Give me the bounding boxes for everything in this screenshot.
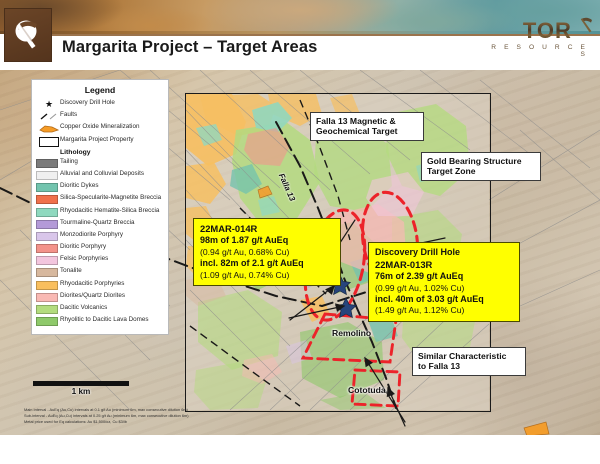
- brand-pick-icon: [580, 17, 594, 33]
- footnote-line-3: Metal price used for Eq calculations: Au…: [24, 419, 354, 425]
- brand-name-main: TOR: [523, 18, 572, 43]
- torq-resources-logo: TORQ R E S O U R C E S: [486, 20, 590, 58]
- map-label-cototuda: Cototuda: [348, 385, 386, 395]
- drill-013-title: Discovery Drill Hole: [375, 247, 513, 259]
- drill-014-line4: (1.09 g/t Au, 0.74% Cu): [200, 270, 334, 281]
- legend-label-monzodiorite: Monzodiorite Porphyry: [60, 231, 123, 238]
- drill-013-line2: (0.99 g/t Au, 1.02% Cu): [375, 283, 513, 294]
- callout-similar-line2: to Falla 13: [418, 361, 520, 371]
- slide-root: Margarita Project – Target Areas TORQ R …: [0, 0, 600, 464]
- legend-item-copper-oxide: Copper Oxide Mineralization: [38, 123, 162, 133]
- drill-013-hole-id: 22MAR-013R: [375, 259, 513, 271]
- swatch-tourmaline-quartz: [36, 220, 58, 229]
- legend-item-property: Margarita Project Property: [38, 136, 162, 147]
- legend-label-rhyodacitic-porphyries: Rhyodacitic Porphyries: [60, 280, 124, 287]
- map-scale-bar: 1 km: [33, 381, 129, 396]
- legend-item-lithology: Rhyodacitic Porphyries: [38, 280, 162, 290]
- legend-item-lithology: Dacitic Volcanics: [38, 304, 162, 314]
- swatch-dioritic-porphyry: [36, 244, 58, 253]
- swatch-diorites-quartz: [36, 293, 58, 302]
- drill-014-line1: 98m of 1.87 g/t AuEq: [200, 235, 334, 247]
- map-canvas[interactable]: Falla 13 WNW Tensional Remolino Cototuda…: [0, 70, 600, 435]
- legend-item-lithology: Tonalite: [38, 267, 162, 277]
- legend-item-lithology: Felsic Porphyries: [38, 255, 162, 265]
- page-title: Margarita Project – Target Areas: [62, 38, 317, 57]
- map-legend: Legend ★ Discovery Drill Hole Faults Cop…: [31, 79, 169, 335]
- scale-bar-line: [33, 381, 129, 386]
- star-icon: ★: [38, 99, 60, 109]
- drill-014-hole-id: 22MAR-014R: [200, 223, 334, 235]
- copper-oxide-icon: [38, 123, 60, 133]
- legend-label-rhyolitic-lava-domes: Rhyolitic to Dacitic Lava Domes: [60, 316, 149, 323]
- callout-falla13-line2: Geochemical Target: [316, 126, 418, 136]
- legend-label-diorites-quartz: Diorites/Quartz Diorites: [60, 292, 125, 299]
- legend-label-rhyodacitic-hematite: Rhyodacitic Hematite-Silica Breccia: [60, 207, 159, 214]
- drill-result-box-22MAR-013R[interactable]: Discovery Drill Hole 22MAR-013R 76m of 2…: [368, 242, 520, 322]
- scale-bar-label: 1 km: [33, 387, 129, 396]
- swatch-silica-specularite: [36, 195, 58, 204]
- swatch-rhyodacitic-porphyries: [36, 281, 58, 290]
- swatch-rhyodacitic-hematite: [36, 208, 58, 217]
- brand-name-tail-wrap: Q: [572, 20, 590, 42]
- legend-item-lithology: Silica-Specularite-Magnetite Breccia: [38, 194, 162, 204]
- legend-item-lithology: Alluvial and Colluvial Deposits: [38, 170, 162, 180]
- callout-gold-line1: Gold Bearing Structure: [427, 156, 535, 166]
- swatch-tonalite: [36, 268, 58, 277]
- callout-gold-bearing-structure[interactable]: Gold Bearing Structure Target Zone: [421, 152, 541, 181]
- property-outline-icon: [38, 136, 60, 147]
- callout-gold-line2: Target Zone: [427, 166, 535, 176]
- callout-falla13-line1: Falla 13 Magnetic &: [316, 116, 418, 126]
- legend-label-dioritic-porphyry: Dioritic Porphyry: [60, 243, 106, 250]
- callout-similar-characteristic[interactable]: Similar Characteristic to Falla 13: [412, 347, 526, 376]
- swatch-alluvial: [36, 171, 58, 180]
- legend-title: Legend: [38, 85, 162, 95]
- legend-label-copper-oxide: Copper Oxide Mineralization: [60, 123, 139, 130]
- legend-label-felsic-porphyries: Felsic Porphyries: [60, 255, 108, 262]
- slide-bottom-strip: [0, 435, 600, 464]
- brand-wordmark: TORQ: [523, 20, 590, 42]
- swatch-tailing: [36, 159, 58, 168]
- swatch-rhyolitic-lava-domes: [36, 317, 58, 326]
- legend-label-property: Margarita Project Property: [60, 136, 134, 143]
- legend-item-lithology: Tourmaline-Quartz Breccia: [38, 219, 162, 229]
- fault-line-icon: [38, 111, 60, 121]
- swatch-dioritic-dykes: [36, 183, 58, 192]
- legend-item-faults: Faults: [38, 111, 162, 121]
- map-label-remolino: Remolino: [332, 328, 371, 338]
- legend-label-tourmaline-quartz: Tourmaline-Quartz Breccia: [60, 219, 135, 226]
- swatch-dacitic-volcanics: [36, 305, 58, 314]
- brand-subtitle: R E S O U R C E S: [486, 44, 590, 58]
- drill-014-line2: (0.94 g/t Au, 0.68% Cu): [200, 247, 334, 258]
- pick-axe-logo-icon: [4, 8, 52, 62]
- drill-013-line3: incl. 40m of 3.03 g/t AuEq: [375, 294, 513, 306]
- legend-label-tonalite: Tonalite: [60, 267, 82, 274]
- legend-label-dacitic-volcanics: Dacitic Volcanics: [60, 304, 107, 311]
- drill-013-line4: (1.49 g/t Au, 1.12% Cu): [375, 305, 513, 316]
- drill-013-line1: 76m of 2.39 g/t AuEq: [375, 271, 513, 283]
- legend-label-drill-hole: Discovery Drill Hole: [60, 99, 115, 106]
- legend-item-lithology: Dioritic Porphyry: [38, 243, 162, 253]
- legend-item-lithology: Dioritic Dykes: [38, 182, 162, 192]
- swatch-monzodiorite: [36, 232, 58, 241]
- legend-label-silica-specularite: Silica-Specularite-Magnetite Breccia: [60, 194, 161, 201]
- legend-item-lithology: Diorites/Quartz Diorites: [38, 292, 162, 302]
- drill-result-box-22MAR-014R[interactable]: 22MAR-014R 98m of 1.87 g/t AuEq (0.94 g/…: [193, 218, 341, 286]
- legend-item-lithology: Tailing: [38, 158, 162, 168]
- legend-label-tailing: Tailing: [60, 158, 78, 165]
- callout-similar-line1: Similar Characteristic: [418, 351, 520, 361]
- callout-falla13-target[interactable]: Falla 13 Magnetic & Geochemical Target: [310, 112, 424, 141]
- footnote-block: Main Interval - AuEq (Au,Cu) intervals a…: [24, 407, 354, 425]
- drill-014-line3: incl. 82m of 2.1 g/t AuEq: [200, 258, 334, 270]
- legend-item-lithology: Monzodiorite Porphyry: [38, 231, 162, 241]
- legend-item-lithology: Rhyodacitic Hematite-Silica Breccia: [38, 207, 162, 217]
- swatch-felsic-porphyries: [36, 256, 58, 265]
- legend-item-discovery-drill-hole: ★ Discovery Drill Hole: [38, 99, 162, 109]
- legend-label-alluvial: Alluvial and Colluvial Deposits: [60, 170, 144, 177]
- legend-lithology-heading: Lithology: [60, 149, 162, 156]
- legend-label-dioritic-dykes: Dioritic Dykes: [60, 182, 99, 189]
- legend-item-lithology: Rhyolitic to Dacitic Lava Domes: [38, 316, 162, 326]
- legend-label-faults: Faults: [60, 111, 77, 118]
